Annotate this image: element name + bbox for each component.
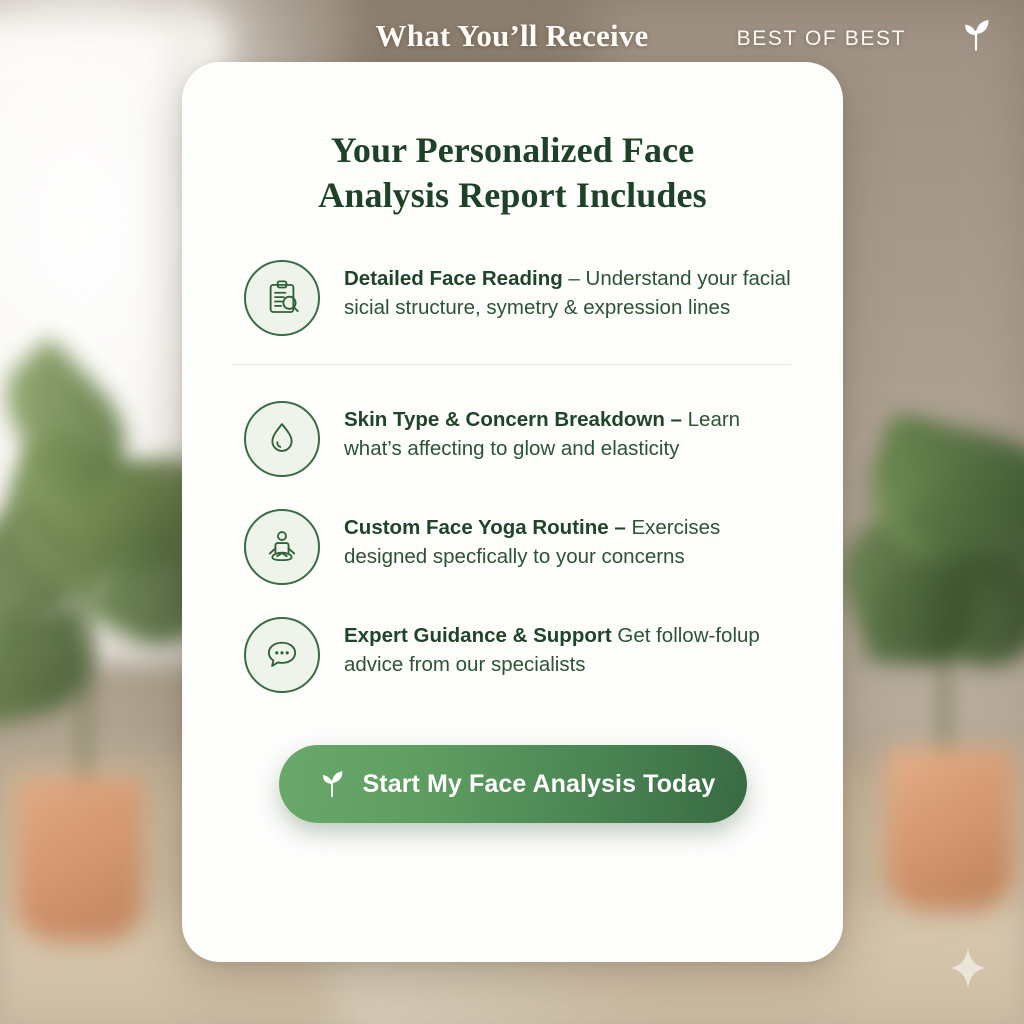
feature-lead: Detailed Face Reading	[344, 267, 563, 290]
feature-text: Custom Face Yoga Routine – Exercises des…	[344, 507, 791, 571]
start-face-analysis-button[interactable]: Start My Face Analysis Today	[279, 745, 747, 823]
offer-card: Your Personalized Face Analysis Report I…	[182, 62, 843, 962]
sprout-leaf-icon	[317, 768, 347, 801]
feature-divider	[232, 364, 791, 365]
feature-lead: Custom Face Yoga Routine –	[344, 516, 626, 539]
four-point-sparkle-icon	[946, 946, 990, 990]
terracotta-pot-right	[886, 748, 1014, 912]
card-heading-line2: Analysis Report Includes	[182, 173, 843, 218]
page-header: What You’ll Receive BEST OF BEST	[0, 0, 1024, 62]
feature-lead: Skin Type & Concern Breakdown –	[344, 408, 682, 431]
water-droplet-icon	[244, 401, 320, 477]
terracotta-pot-left	[15, 778, 143, 942]
feature-text: Detailed Face Reading – Understand your …	[344, 258, 791, 322]
yoga-meditation-icon	[244, 509, 320, 585]
feature-list: Detailed Face Reading – Understand your …	[182, 258, 843, 693]
feature-item-skin-type-breakdown: Skin Type & Concern Breakdown – Learn wh…	[182, 399, 843, 477]
feature-lead: Expert Guidance & Support	[344, 624, 612, 647]
feature-item-expert-guidance: Expert Guidance & Support Get follow-fol…	[182, 615, 843, 693]
best-of-best-badge: BEST OF BEST	[737, 27, 906, 51]
cta-container: Start My Face Analysis Today	[182, 745, 843, 823]
feature-text: Expert Guidance & Support Get follow-fol…	[344, 615, 791, 679]
feature-item-face-yoga-routine: Custom Face Yoga Routine – Exercises des…	[182, 507, 843, 585]
clipboard-magnifier-icon	[244, 260, 320, 336]
feature-text: Skin Type & Concern Breakdown – Learn wh…	[344, 399, 791, 463]
feature-item-detailed-face-reading: Detailed Face Reading – Understand your …	[182, 258, 843, 336]
cta-label: Start My Face Analysis Today	[363, 770, 716, 799]
card-heading: Your Personalized Face Analysis Report I…	[182, 128, 843, 218]
card-heading-line1: Your Personalized Face	[182, 128, 843, 173]
speech-bubble-icon	[244, 617, 320, 693]
sprout-leaf-icon	[958, 16, 994, 52]
